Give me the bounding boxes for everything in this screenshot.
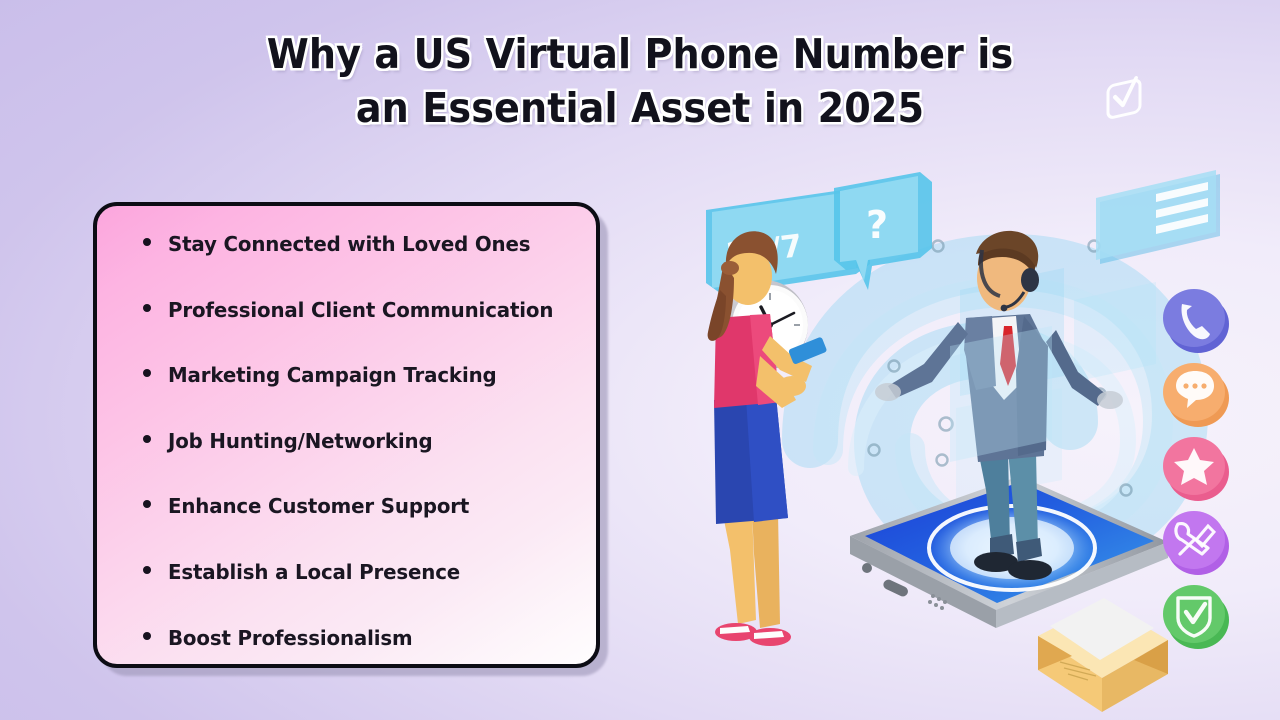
- open-envelope: [1038, 598, 1168, 712]
- list-item-label: Marketing Campaign Tracking: [168, 363, 497, 387]
- bullet-icon: [143, 500, 151, 508]
- checklist-card: [1096, 78, 1220, 264]
- hologram-foreground-panel: [950, 326, 1052, 462]
- tools-badge: [1163, 511, 1229, 575]
- list-item-label: Establish a Local Presence: [168, 560, 460, 584]
- bullet-icon: [143, 369, 151, 377]
- list-item: Job Hunting/Networking: [143, 429, 578, 495]
- list-item-label: Professional Client Communication: [168, 298, 553, 322]
- list-item: Professional Client Communication: [143, 298, 578, 364]
- benefits-card: Stay Connected with Loved Ones Professio…: [93, 202, 600, 668]
- list-item: Marketing Campaign Tracking: [143, 363, 578, 429]
- list-item-label: Boost Professionalism: [168, 626, 413, 650]
- bullet-icon: [143, 304, 151, 312]
- hero-illustration: 24/7 ?: [660, 150, 1280, 720]
- page-title: Why a US Virtual Phone Number is an Esse…: [0, 34, 1280, 129]
- list-item-label: Enhance Customer Support: [168, 494, 469, 518]
- list-item: Boost Professionalism: [143, 626, 578, 668]
- bullet-icon: [143, 632, 151, 640]
- list-item: Establish a Local Presence: [143, 560, 578, 626]
- list-item: Enhance Customer Support: [143, 494, 578, 560]
- list-item-label: Stay Connected with Loved Ones: [168, 232, 530, 256]
- page-title-line-2: an Essential Asset in 2025: [45, 88, 1235, 129]
- infographic-canvas: Why a US Virtual Phone Number is an Esse…: [0, 0, 1280, 720]
- bubble-text: ?: [866, 203, 888, 247]
- page-title-line-1: Why a US Virtual Phone Number is: [45, 34, 1235, 75]
- benefits-list: Stay Connected with Loved Ones Professio…: [97, 206, 596, 668]
- bullet-icon: [143, 435, 151, 443]
- bullet-icon: [143, 238, 151, 246]
- bullet-icon: [143, 566, 151, 574]
- list-item-label: Job Hunting/Networking: [168, 429, 432, 453]
- verified-badge: [1163, 585, 1229, 649]
- list-item: Stay Connected with Loved Ones: [143, 232, 578, 298]
